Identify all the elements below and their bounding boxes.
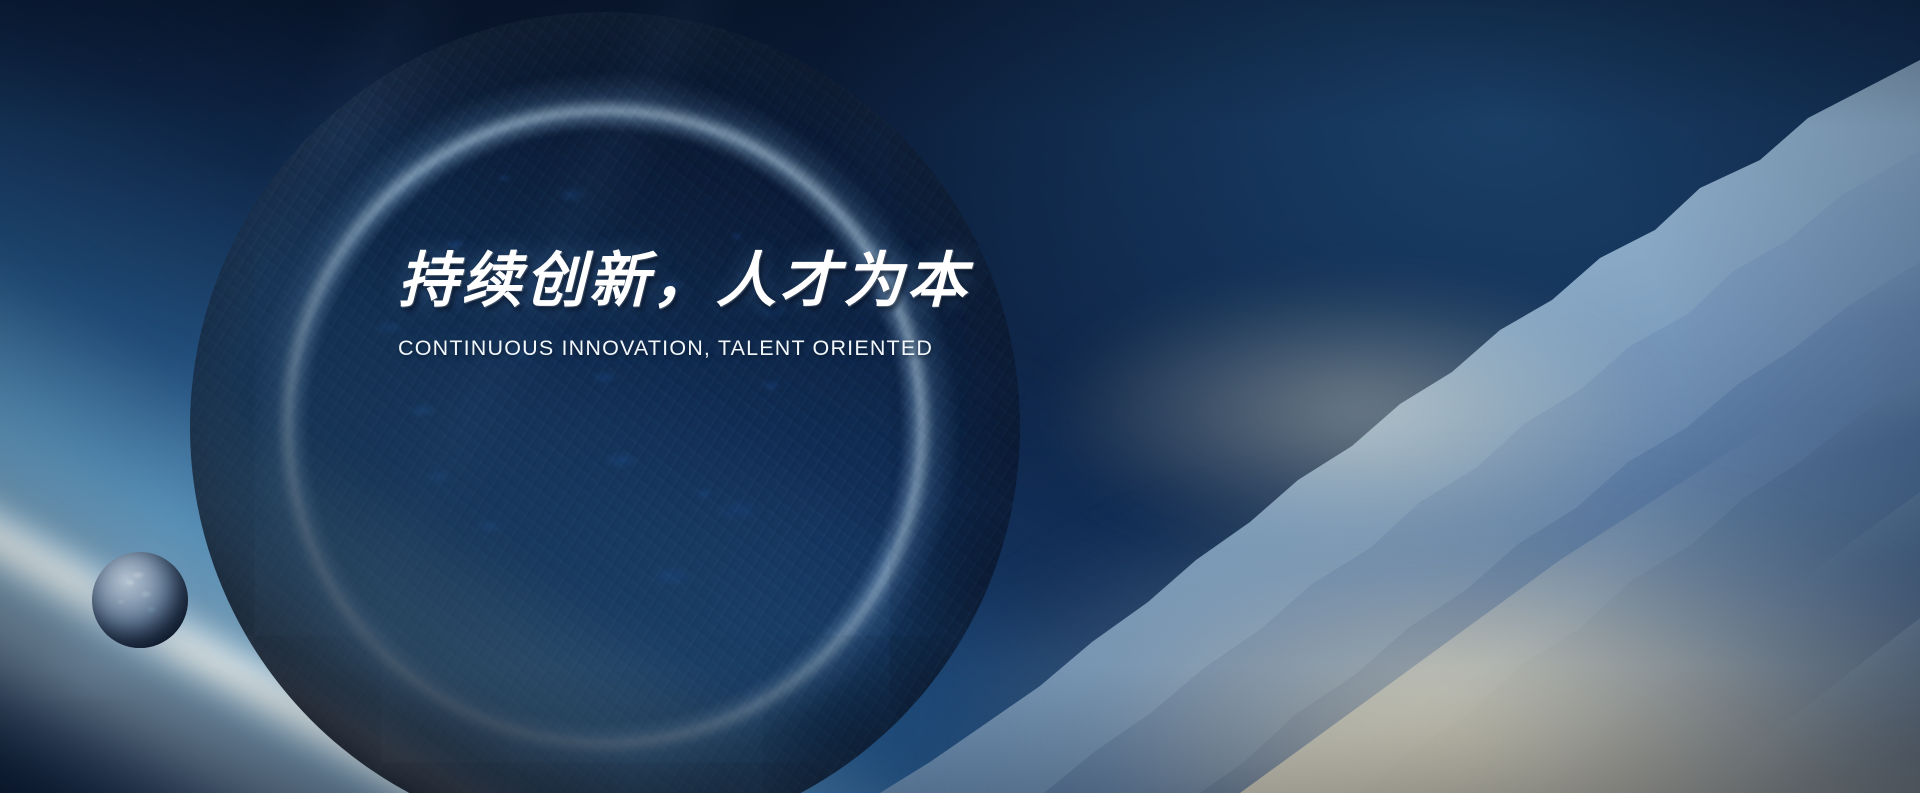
planet-atmosphere bbox=[164, 0, 1046, 793]
warm-atmosphere-haze-secondary bbox=[980, 233, 1740, 593]
ridge-1 bbox=[880, 60, 1920, 793]
mountain-terrain bbox=[0, 0, 1920, 793]
ridge-5 bbox=[1540, 492, 1920, 793]
banner-caption: 持续创新，人才为本 CONTINUOUS INNOVATION, TALENT … bbox=[398, 246, 1178, 361]
planet-outer-glow bbox=[172, 0, 1038, 793]
sky-gradient bbox=[0, 0, 1920, 793]
planet bbox=[190, 12, 1020, 793]
moon-limb-highlight bbox=[92, 552, 188, 648]
vignette-overlay bbox=[0, 0, 1920, 793]
banner-headline: 持续创新，人才为本 bbox=[398, 246, 1178, 317]
ridge-4 bbox=[1360, 376, 1920, 793]
atmosphere-limb-band bbox=[0, 0, 1920, 793]
hero-banner: 持续创新，人才为本 CONTINUOUS INNOVATION, TALENT … bbox=[0, 0, 1920, 793]
ridge-3 bbox=[1200, 262, 1920, 793]
planet-surface-texture bbox=[190, 12, 1020, 793]
ridge-2 bbox=[1044, 150, 1920, 793]
warm-atmosphere-haze bbox=[830, 293, 1920, 793]
banner-subtitle: CONTINUOUS INNOVATION, TALENT ORIENTED bbox=[398, 336, 1178, 361]
planet-terminator-shadow bbox=[190, 12, 1020, 793]
ridge-6 bbox=[1710, 618, 1920, 793]
valley-haze bbox=[1240, 330, 1920, 793]
planet-limb-highlight bbox=[190, 12, 1020, 793]
atmosphere-wide-glow bbox=[0, 26, 1883, 793]
moon bbox=[92, 552, 188, 648]
space-light-streaks-icon bbox=[0, 0, 880, 700]
moon-surface-texture bbox=[92, 552, 188, 648]
planet-body bbox=[190, 12, 1020, 793]
starfield bbox=[0, 0, 1920, 793]
atmosphere-core-glow bbox=[0, 169, 1802, 793]
planet-surface-striations bbox=[190, 12, 1020, 793]
